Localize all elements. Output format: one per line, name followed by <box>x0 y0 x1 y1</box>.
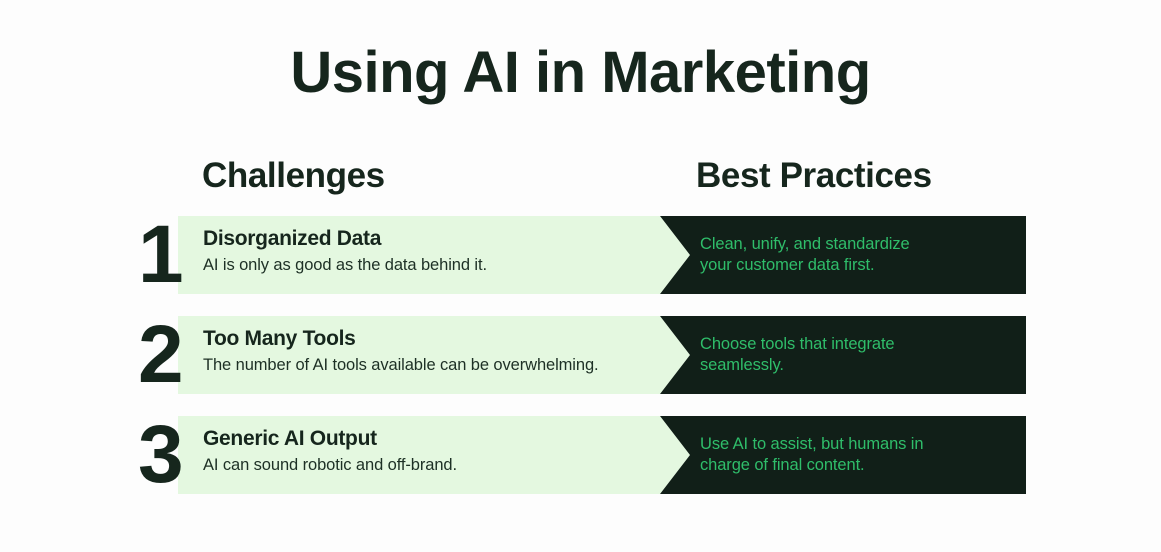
practice-text-1: Clean, unify, and standardize your custo… <box>700 234 910 276</box>
challenge-subtitle-1: AI is only as good as the data behind it… <box>203 255 690 276</box>
rows-container: 1 Disorganized Data AI is only as good a… <box>0 216 1161 516</box>
challenge-title-2: Too Many Tools <box>203 327 690 352</box>
challenge-title-3: Generic AI Output <box>203 427 690 452</box>
challenge-subtitle-2: The number of AI tools available can be … <box>203 355 690 376</box>
column-header-challenges: Challenges <box>202 158 385 193</box>
practice-text-2: Choose tools that integrate seamlessly. <box>700 334 895 376</box>
practice-panel-3: Use AI to assist, but humans in charge o… <box>660 416 1026 494</box>
challenge-panel-3: Generic AI Output AI can sound robotic a… <box>178 416 690 494</box>
row-1: 1 Disorganized Data AI is only as good a… <box>0 216 1161 294</box>
page-title: Using AI in Marketing <box>0 44 1161 102</box>
practice-text-3: Use AI to assist, but humans in charge o… <box>700 434 923 476</box>
practice-panel-2: Choose tools that integrate seamlessly. <box>660 316 1026 394</box>
row-number-3: 3 <box>138 423 194 487</box>
practice-panel-1: Clean, unify, and standardize your custo… <box>660 216 1026 294</box>
challenge-panel-1: Disorganized Data AI is only as good as … <box>178 216 690 294</box>
challenge-subtitle-3: AI can sound robotic and off-brand. <box>203 455 690 476</box>
column-header-best-practices: Best Practices <box>696 158 932 193</box>
challenge-title-1: Disorganized Data <box>203 227 690 252</box>
row-2: 2 Too Many Tools The number of AI tools … <box>0 316 1161 394</box>
row-number-2: 2 <box>138 323 194 387</box>
challenge-panel-2: Too Many Tools The number of AI tools av… <box>178 316 690 394</box>
row-number-1: 1 <box>138 223 194 287</box>
row-3: 3 Generic AI Output AI can sound robotic… <box>0 416 1161 494</box>
